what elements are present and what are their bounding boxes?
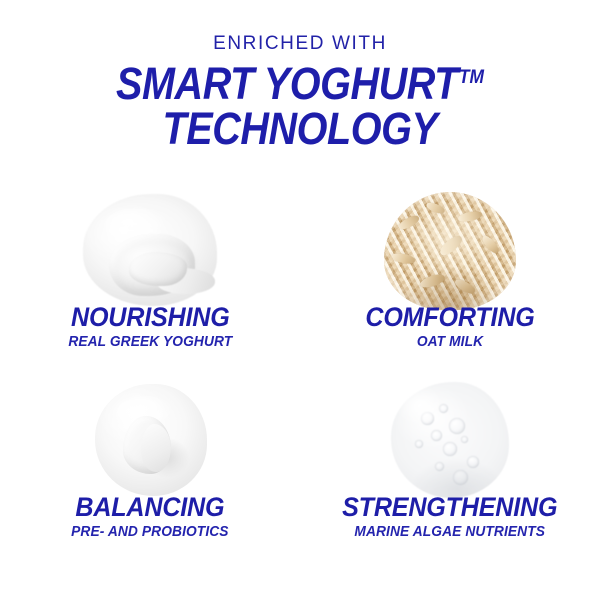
swirl-tail xyxy=(157,268,215,294)
benefit-caption: COMFORTING OAT MILK xyxy=(359,304,541,350)
oats-mound xyxy=(384,192,516,310)
headline-line-1: SMART YOGHURTTM xyxy=(36,62,564,107)
poster-header: ENRICHED WITH SMART YOGHURTTM TECHNOLOGY xyxy=(0,34,600,151)
benefit-title: BALANCING xyxy=(73,494,227,521)
benefit-item-nourishing: NOURISHING REAL GREEK YOGHURT xyxy=(0,188,300,378)
kicker-text: ENRICHED WITH xyxy=(0,34,600,53)
swirl-body xyxy=(83,194,217,306)
yoghurt-swirl-image xyxy=(75,188,225,316)
product-benefits-poster: ENRICHED WITH SMART YOGHURTTM TECHNOLOGY… xyxy=(0,0,600,600)
trademark-symbol: TM xyxy=(459,66,484,88)
gel-shading xyxy=(391,382,509,498)
benefit-subtitle: OAT MILK xyxy=(364,335,537,350)
benefit-subtitle: PRE- AND PROBIOTICS xyxy=(71,525,228,540)
cream-dollop-image xyxy=(75,378,225,506)
benefit-subtitle: REAL GREEK YOGHURT xyxy=(68,335,232,350)
benefit-caption: BALANCING PRE- AND PROBIOTICS xyxy=(67,494,233,540)
benefit-subtitle: MARINE ALGAE NUTRIENTS xyxy=(340,525,560,540)
page-title: SMART YOGHURTTM TECHNOLOGY xyxy=(36,62,564,151)
benefit-caption: NOURISHING REAL GREEK YOGHURT xyxy=(64,304,237,350)
swirl-highlight xyxy=(105,208,167,242)
oats-shading xyxy=(384,192,516,310)
gel-body xyxy=(391,382,509,498)
gel-bubbles-image xyxy=(375,378,525,506)
benefit-title: COMFORTING xyxy=(365,304,534,331)
benefit-title: STRENGTHENING xyxy=(342,494,557,521)
dollop-fold xyxy=(141,424,171,472)
headline-line-1-text: SMART YOGHURT xyxy=(116,58,458,109)
dollop-body xyxy=(95,384,207,496)
benefit-title: NOURISHING xyxy=(70,304,231,331)
benefits-grid: NOURISHING REAL GREEK YOGHURT xyxy=(0,188,600,588)
benefit-item-balancing: BALANCING PRE- AND PROBIOTICS xyxy=(0,378,300,568)
headline-line-2: TECHNOLOGY xyxy=(36,107,564,152)
benefit-item-strengthening: STRENGTHENING MARINE ALGAE NUTRIENTS xyxy=(300,378,600,568)
benefit-caption: STRENGTHENING MARINE ALGAE NUTRIENTS xyxy=(334,494,565,540)
benefit-item-comforting: COMFORTING OAT MILK xyxy=(300,188,600,378)
oat-flakes-image xyxy=(375,188,525,316)
